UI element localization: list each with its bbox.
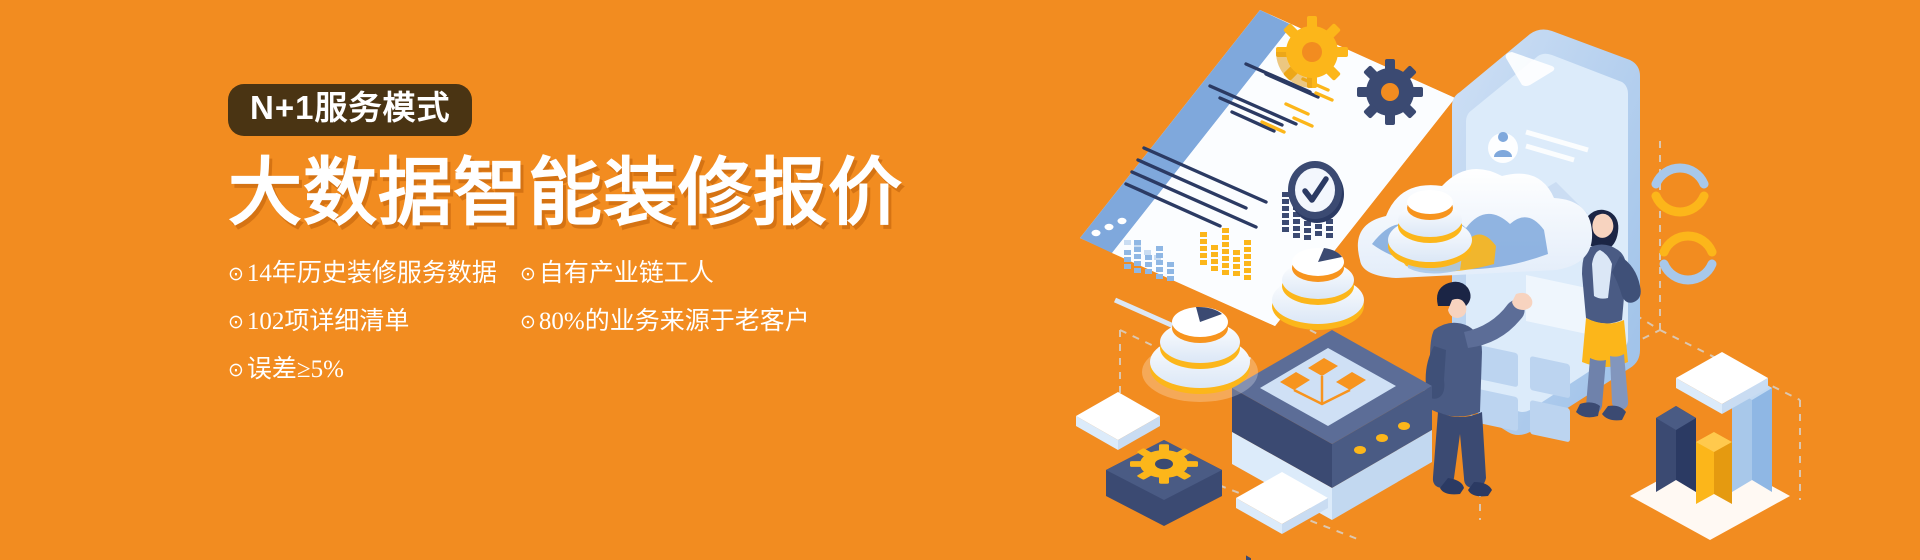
bullet-label: 自有产业链工人: [539, 261, 714, 286]
bullet-column-left: ⊙ 14年历史装修服务数据 ⊙ 102项详细清单 ⊙ 误差≥5%: [228, 261, 490, 405]
bullet-label: 14年历史装修服务数据: [247, 261, 497, 286]
bullet-item: ⊙ 14年历史装修服务数据: [228, 261, 490, 286]
bullet-item: ⊙ 102项详细清单: [228, 309, 490, 334]
bullet-marker-icon: ⊙: [520, 313, 536, 332]
bullet-label: 误差≥5%: [247, 357, 344, 382]
gear-platform: [1106, 440, 1222, 526]
bullet-marker-icon: ⊙: [228, 265, 244, 284]
woman-shoe-back: [1576, 402, 1600, 417]
bullet-item: ⊙ 自有产业链工人: [520, 261, 810, 286]
floating-card: [1076, 392, 1160, 450]
server-box: [1232, 330, 1432, 560]
bar-navy: [1656, 406, 1696, 492]
bullet-item: ⊙ 误差≥5%: [228, 357, 490, 382]
gear-icon: [1130, 444, 1198, 483]
man-trousers: [1433, 412, 1486, 488]
bullet-item: ⊙ 80%的业务来源于老客户: [520, 309, 810, 334]
isometric-big-data-illustration: [1060, 0, 1920, 560]
gear-yellow: [1276, 16, 1348, 88]
browser-window: [1080, 10, 1455, 360]
gear-navy: [1357, 59, 1423, 125]
ring-segments: [1656, 168, 1712, 280]
bullet-label: 80%的业务来源于老客户: [539, 309, 810, 334]
banner-text-block: N+1服务模式 大数据智能装修报价 ⊙ 14年历史装修服务数据 ⊙ 102项详细…: [228, 84, 988, 405]
bullet-marker-icon: ⊙: [228, 361, 244, 380]
bullet-column-right: ⊙ 自有产业链工人 ⊙ 80%的业务来源于老客户: [520, 261, 810, 405]
bullet-label: 102项详细清单: [247, 309, 410, 334]
feature-bullet-list: ⊙ 14年历史装修服务数据 ⊙ 102项详细清单 ⊙ 误差≥5% ⊙ 自有产业链…: [228, 261, 988, 405]
server-mini-bars: [1246, 555, 1291, 560]
banner-headline: 大数据智能装修报价: [228, 154, 988, 232]
bullet-marker-icon: ⊙: [228, 313, 244, 332]
promo-banner: N+1服务模式 大数据智能装修报价 ⊙ 14年历史装修服务数据 ⊙ 102项详细…: [0, 0, 1920, 560]
bullet-marker-icon: ⊙: [520, 265, 536, 284]
bar-orange: [1696, 432, 1732, 504]
service-model-badge: N+1服务模式: [228, 84, 472, 136]
